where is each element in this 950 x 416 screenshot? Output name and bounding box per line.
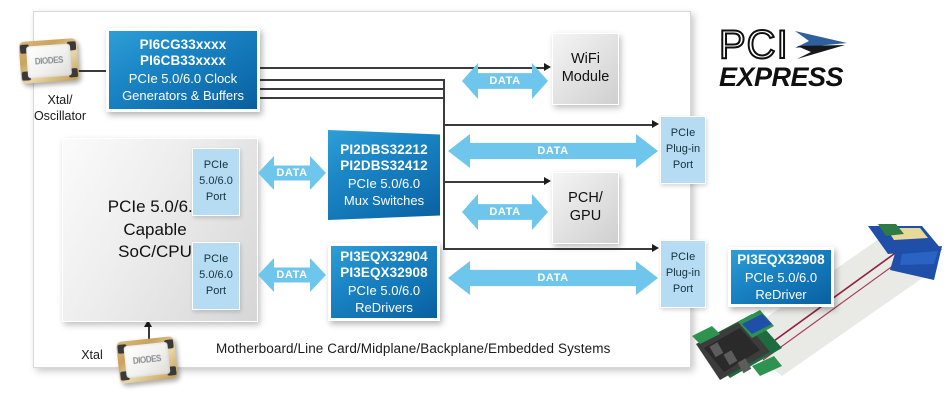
redriver-block[interactable]: PI3EQX32904 PI3EQX32908 PCIe 5.0/6.0 ReD… <box>328 243 440 321</box>
clock-line-wifi-arrowhead <box>544 63 551 71</box>
xtal-oscillator-label-line-1: Xtal/ <box>24 92 96 108</box>
xtal-oscillator-label-line-2: Oscillator <box>24 108 96 124</box>
plugin-port-1-line-1: PCIe <box>671 126 695 142</box>
pcie-plugin-port-1[interactable]: PCIe Plug-in Port <box>660 116 706 184</box>
soc-line-2: Capable <box>75 219 235 242</box>
diagram-canvas: PCIe 5.0/6.0 Capable SoC/CPU PCIe 5.0/6.… <box>0 0 950 416</box>
pch-line-2: GPU <box>570 208 601 226</box>
pci-express-logo-text: EXPRESS <box>719 63 859 91</box>
redriver-cable-block[interactable]: PI3EQX32908 PCIe 5.0/6.0 ReDriver <box>728 247 834 307</box>
mux-switch-block[interactable]: PI2DBS32212 PI2DBS32412 PCIe 5.0/6.0 Mux… <box>328 130 440 220</box>
oscillator-to-clockgen-line <box>76 70 108 72</box>
riser-bottom-connector <box>692 310 782 380</box>
redriver-pn-2: PI3EQX32908 <box>340 265 427 281</box>
diodes-logo-icon-bottom: DIODES <box>132 353 161 366</box>
data-arrow-plugin-1-label: DATA <box>537 145 568 157</box>
pci-express-arrow-icon <box>793 28 851 62</box>
pci-logo-row: PCI <box>719 28 859 62</box>
clock-line-plugin1-arrowhead <box>652 120 659 128</box>
soc-pcie-port-2[interactable]: PCIe 5.0/6.0 Port <box>192 242 240 310</box>
redriver-cable-desc-2: ReDriver <box>755 287 806 302</box>
redriver-cable-desc-1: PCIe 5.0/6.0 <box>745 270 817 285</box>
mux-switch-pn-1: PI2DBS32212 <box>340 142 427 158</box>
mux-switch-desc-2: Mux Switches <box>344 193 424 208</box>
clock-generator-pn-1: PI6CG33xxxx <box>140 37 227 53</box>
diodes-logo-icon: DIODES <box>35 55 64 67</box>
board-caption: Motherboard/Line Card/Midplane/Backplane… <box>216 341 636 356</box>
plugin-port-1-line-2: Plug-in <box>666 142 700 158</box>
clock-line-wifi <box>258 67 546 69</box>
redriver-cable-pn-1: PI3EQX32908 <box>737 252 824 268</box>
soc-port-1-line-1: PCIe <box>204 158 228 174</box>
soc-port-2-line-1: PCIe <box>204 252 228 268</box>
pch-line-1: PCH/ <box>568 190 603 208</box>
xtal-oscillator-lid: DIODES <box>26 44 72 78</box>
soc-pcie-port-1[interactable]: PCIe 5.0/6.0 Port <box>192 148 240 216</box>
pci-logo-text: PCI <box>719 28 789 62</box>
clock-line-plugin2-arrowhead <box>652 244 659 252</box>
xtal-label-text: Xtal <box>81 348 103 362</box>
plugin-port-1-line-3: Port <box>673 158 693 174</box>
clock-line-bus-c <box>258 97 445 99</box>
soc-port-1-line-3: Port <box>206 190 226 206</box>
soc-port-2-line-3: Port <box>206 284 226 300</box>
wifi-line-1: WiFi <box>571 51 600 69</box>
pci-express-logo: PCI EXPRESS <box>719 28 859 90</box>
clock-line-bus-b <box>258 88 445 90</box>
clock-generator-block[interactable]: PI6CG33xxxx PI6CB33xxxx PCIe 5.0/6.0 Clo… <box>106 28 260 112</box>
data-arrow-wifi-label: DATA <box>489 75 520 87</box>
xtal-component: DIODES <box>116 336 178 384</box>
soc-port-1-line-2: 5.0/6.0 <box>199 174 233 190</box>
xtal-lid: DIODES <box>123 342 170 378</box>
pch-gpu-block[interactable]: PCH/ GPU <box>552 172 619 244</box>
clock-generator-pn-2: PI6CB33xxxx <box>140 53 226 69</box>
data-arrow-soc-mux-label: DATA <box>276 167 307 179</box>
clock-generator-desc-1: PCIe 5.0/6.0 Clock <box>129 71 237 86</box>
xtal-oscillator-label: Xtal/ Oscillator <box>24 92 96 125</box>
clock-line-plugin1 <box>443 124 654 126</box>
redriver-desc-1: PCIe 5.0/6.0 <box>348 283 420 298</box>
data-arrow-pch-label: DATA <box>489 206 520 218</box>
mux-switch-pn-2: PI2DBS32412 <box>340 158 427 174</box>
clock-line-pch <box>443 181 546 183</box>
data-arrow-soc-redriver-label: DATA <box>276 269 307 281</box>
clock-line-bus-a <box>258 79 445 81</box>
redriver-desc-2: ReDrivers <box>355 300 413 315</box>
xtal-oscillator-component: DIODES <box>19 38 80 84</box>
soc-port-2-line-2: 5.0/6.0 <box>199 268 233 284</box>
redriver-pn-1: PI3EQX32904 <box>340 249 427 265</box>
wifi-line-2: Module <box>562 69 610 87</box>
clock-line-pch-arrowhead <box>544 177 551 185</box>
clock-line-plugin2 <box>443 248 654 250</box>
clock-generator-desc-2: Generators & Buffers <box>122 88 244 103</box>
clock-bus-vertical <box>443 79 445 250</box>
wifi-module-block[interactable]: WiFi Module <box>552 33 619 105</box>
data-arrow-plugin-2-label: DATA <box>537 272 568 284</box>
mux-switch-desc-1: PCIe 5.0/6.0 <box>348 176 420 191</box>
xtal-label: Xtal <box>72 347 112 363</box>
